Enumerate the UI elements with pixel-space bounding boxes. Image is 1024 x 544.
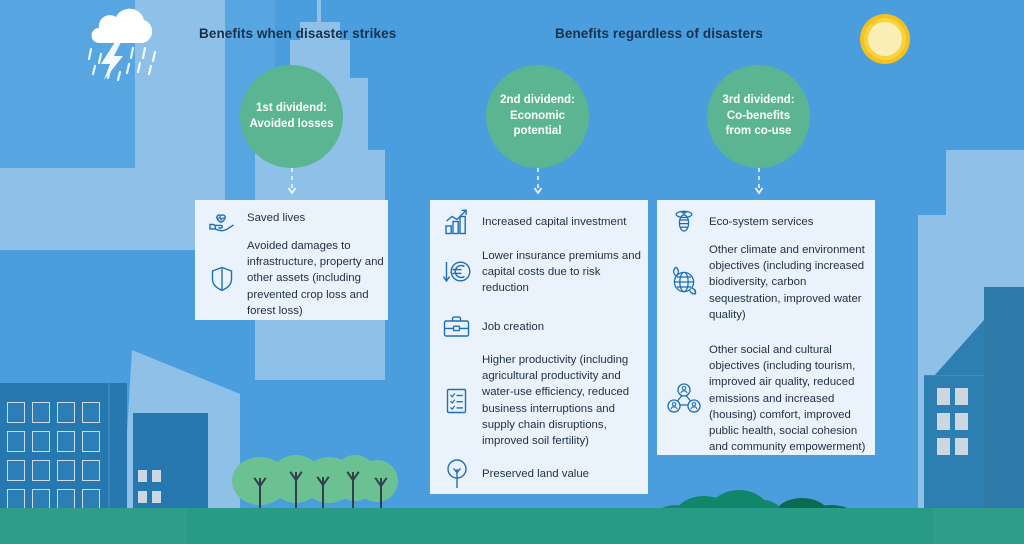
building-edge <box>924 375 984 376</box>
euro-down-arrow-icon <box>440 257 474 287</box>
infographic-canvas: Benefits when disaster strikes Benefits … <box>0 0 1024 544</box>
list-item-label: Eco-system services <box>701 214 813 230</box>
list-item[interactable]: Preserved land value <box>440 458 645 490</box>
bubble-line-2: Avoided losses <box>250 117 334 133</box>
sun-icon <box>860 14 910 64</box>
bubble-line-3: from co-use <box>722 124 794 140</box>
bubble-line-1: 2nd dividend: <box>486 93 589 109</box>
building-silhouette <box>946 150 1006 240</box>
list-item-label: Saved lives <box>239 210 305 226</box>
briefcase-icon <box>440 314 474 340</box>
building-foreground <box>984 287 1024 544</box>
tree-icon <box>440 458 474 490</box>
list-item[interactable]: Job creation <box>440 314 645 340</box>
storm-cloud-lightning-rain-icon <box>85 16 165 82</box>
ground-strip <box>187 508 933 544</box>
building-antenna <box>317 0 321 28</box>
list-item[interactable]: Saved lives <box>205 210 385 236</box>
bubble-line-1: 3rd dividend: <box>722 93 794 109</box>
list-item-label: Other social and cultural objectives (in… <box>701 342 872 455</box>
list-item[interactable]: Higher productivity (including agricultu… <box>440 352 645 449</box>
bubble-line-2: Co-benefits <box>722 109 794 125</box>
dividend-bubble-3[interactable]: 3rd dividend: Co-benefits from co-use <box>707 65 810 168</box>
dividend-bubble-2[interactable]: 2nd dividend: Economic potential <box>486 65 589 168</box>
bubble-line-2: Economic potential <box>486 109 589 140</box>
list-item[interactable]: Increased capital investment <box>440 208 645 236</box>
bar-chart-growth-icon <box>440 208 474 236</box>
people-network-icon <box>667 382 701 416</box>
list-item-label: Preserved land value <box>474 466 589 482</box>
dashed-down-arrow-icon <box>532 168 544 198</box>
list-item[interactable]: Avoided damages to infrastructure, prope… <box>205 238 385 319</box>
list-item-label: Avoided damages to infrastructure, prope… <box>239 238 385 319</box>
benefits-card-2: Increased capital investment Lower insur… <box>430 200 648 494</box>
hand-holding-heart-icon <box>205 210 239 236</box>
bee-icon <box>667 208 701 236</box>
globe-leaf-water-icon <box>667 266 701 298</box>
list-item-label: Other climate and environment objectives… <box>701 242 872 323</box>
list-item[interactable]: Lower insurance premiums and capital cos… <box>440 248 645 297</box>
list-item-label: Increased capital investment <box>474 214 626 230</box>
benefits-card-1: Saved lives Avoided damages to infrastru… <box>195 200 388 320</box>
ground-strip-left <box>0 508 187 544</box>
list-item[interactable]: Eco-system services <box>667 208 872 236</box>
list-item-label: Lower insurance premiums and capital cos… <box>474 248 645 297</box>
window-pairs <box>937 388 968 455</box>
checklist-icon <box>440 386 474 416</box>
bubble-line-1: 1st dividend: <box>250 101 334 117</box>
dividend-bubble-1[interactable]: 1st dividend: Avoided losses <box>240 65 343 168</box>
section-heading-left: Benefits when disaster strikes <box>199 26 396 41</box>
dashed-down-arrow-icon <box>286 168 298 198</box>
list-item[interactable]: Other social and cultural objectives (in… <box>667 342 872 455</box>
list-item-label: Job creation <box>474 319 544 335</box>
benefits-card-3: Eco-system services Other climate and en… <box>657 200 875 455</box>
ground-strip-right <box>933 508 1024 544</box>
shield-icon <box>205 263 239 293</box>
list-item-label: Higher productivity (including agricultu… <box>474 352 645 449</box>
list-item[interactable]: Other climate and environment objectives… <box>667 242 872 323</box>
section-heading-right: Benefits regardless of disasters <box>555 26 763 41</box>
dashed-down-arrow-icon <box>753 168 765 198</box>
